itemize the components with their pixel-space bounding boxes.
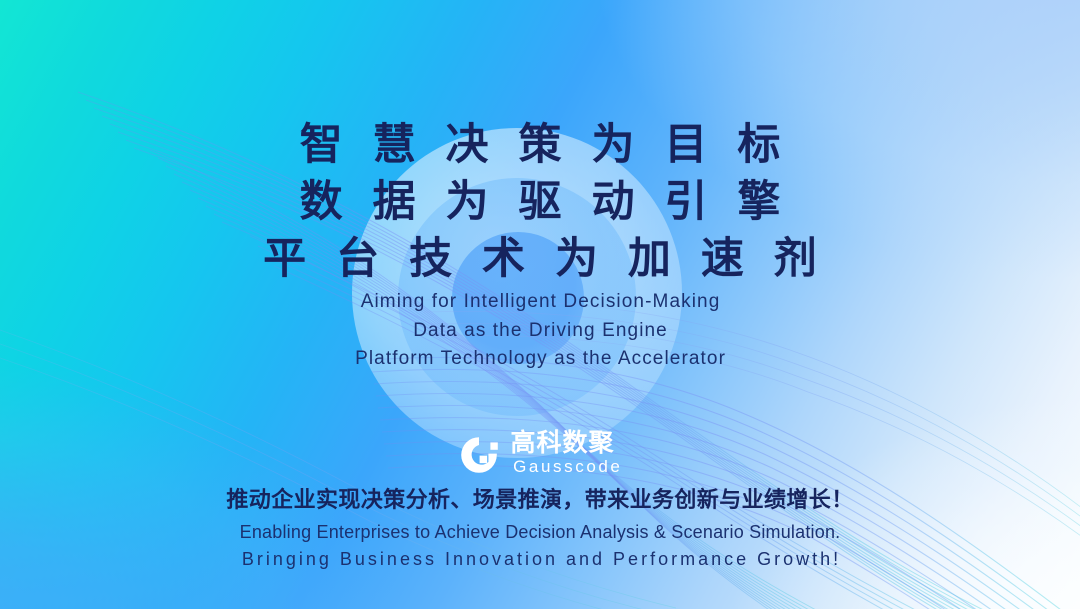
tagline-english: Enabling Enterprises to Achieve Decision… [0, 519, 1080, 573]
brand-logo: 高科数聚 Gausscode [0, 430, 1080, 477]
logo-name-en: Gausscode [511, 457, 623, 477]
gausscode-logo-mark [458, 434, 500, 476]
logo-name-cn: 高科数聚 [511, 430, 623, 457]
headline-line-3: 平 台 技 术 为 加 速 剂 [0, 231, 1080, 288]
subtitle-line-2: Data as the Driving Engine [0, 317, 1080, 346]
subtitle-line-3: Platform Technology as the Accelerator [0, 345, 1080, 374]
tagline-english-line-2: Bringing Business Innovation and Perform… [0, 546, 1080, 573]
headline: 智 慧 决 策 为 目 标 数 据 为 驱 动 引 擎 平 台 技 术 为 加 … [0, 117, 1080, 288]
tagline-english-line-1: Enabling Enterprises to Achieve Decision… [0, 519, 1080, 546]
headline-line-1: 智 慧 决 策 为 目 标 [0, 117, 1080, 174]
tagline-chinese: 推动企业实现决策分析、场景推演，带来业务创新与业绩增长！ [0, 485, 1080, 515]
subtitle-line-1: Aiming for Intelligent Decision-Making [0, 288, 1080, 317]
headline-line-2: 数 据 为 驱 动 引 擎 [0, 174, 1080, 231]
subtitle: Aiming for Intelligent Decision-Making D… [0, 288, 1080, 374]
marketing-banner: 智 慧 决 策 为 目 标 数 据 为 驱 动 引 擎 平 台 技 术 为 加 … [0, 0, 1080, 609]
banner-content: 智 慧 决 策 为 目 标 数 据 为 驱 动 引 擎 平 台 技 术 为 加 … [0, 0, 1080, 609]
